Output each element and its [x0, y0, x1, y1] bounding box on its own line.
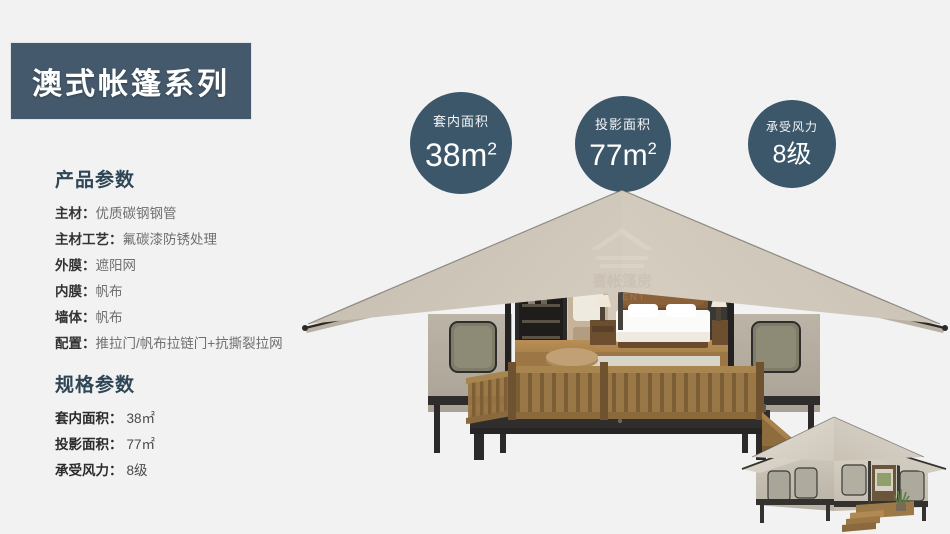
param-label: 墙体：: [55, 310, 96, 325]
spec-params-heading: 规格参数: [55, 370, 155, 397]
spec-row: 套内面积：38㎡: [55, 406, 155, 432]
stat-value-number: 77: [589, 139, 622, 172]
spec-params-section: 规格参数 套内面积：38㎡ 投影面积：77㎡ 承受风力：8级: [55, 370, 155, 484]
stat-badge-label: 承受风力: [766, 121, 818, 133]
stat-badge-label: 投影面积: [595, 118, 651, 131]
stat-value-number: 38: [425, 137, 461, 173]
svg-text:XI TENT: XI TENT: [598, 292, 646, 302]
stat-badge-value: 77m2: [589, 141, 657, 171]
stat-value-unit: m: [623, 139, 648, 172]
stat-value-superscript: 2: [648, 140, 657, 158]
stat-badge-projected-area: 投影面积 77m2: [575, 96, 671, 192]
slide-canvas: 澳式帐篷系列 产品参数 主材：优质碳钢钢管 主材工艺：氟碳漆防锈处理 外膜：遮阳…: [0, 0, 950, 534]
spec-row: 投影面积：77㎡: [55, 432, 155, 458]
spec-value: 8级: [123, 463, 148, 478]
param-row: 主材工艺：氟碳漆防锈处理: [55, 227, 283, 253]
product-params-heading: 产品参数: [55, 165, 283, 192]
param-value: 推拉门/帆布拉链门+抗撕裂拉网: [96, 336, 283, 351]
stat-badge-label: 套内面积: [433, 115, 489, 128]
spec-label: 套内面积：: [55, 411, 123, 426]
svg-text:喜帐篷房: 喜帐篷房: [592, 272, 652, 290]
param-value: 优质碳钢钢管: [96, 206, 177, 221]
stat-badge-wind-resistance: 承受风力 8级: [748, 100, 836, 188]
param-value: 帆布: [96, 310, 123, 325]
param-row: 外膜：遮阳网: [55, 253, 283, 279]
stat-value-number: 8级: [773, 140, 812, 168]
spec-row: 承受风力：8级: [55, 458, 155, 484]
param-row: 主材：优质碳钢钢管: [55, 201, 283, 227]
stat-badge-value: 38m2: [425, 139, 497, 171]
tent2-roof-upper: [752, 417, 924, 461]
product-params-list: 主材：优质碳钢钢管 主材工艺：氟碳漆防锈处理 外膜：遮阳网 内膜：帆布 墙体：帆…: [55, 201, 283, 357]
param-label: 内膜：: [55, 284, 96, 299]
series-title-banner: 澳式帐篷系列: [10, 42, 252, 120]
spec-params-list: 套内面积：38㎡ 投影面积：77㎡ 承受风力：8级: [55, 406, 155, 484]
stat-value-superscript: 2: [487, 138, 497, 158]
param-value: 帆布: [96, 284, 123, 299]
series-title-text: 澳式帐篷系列: [32, 59, 230, 103]
param-row: 墙体：帆布: [55, 305, 283, 331]
product-params-section: 产品参数 主材：优质碳钢钢管 主材工艺：氟碳漆防锈处理 外膜：遮阳网 内膜：帆布…: [55, 165, 283, 357]
param-row: 配置：推拉门/帆布拉链门+抗撕裂拉网: [55, 331, 283, 357]
param-value: 氟碳漆防锈处理: [123, 232, 218, 247]
stat-badge-interior-area: 套内面积 38m2: [410, 92, 512, 194]
param-label: 配置：: [55, 336, 96, 351]
spec-label: 承受风力：: [55, 463, 123, 478]
param-label: 主材工艺：: [55, 232, 123, 247]
stat-value-unit: m: [461, 137, 488, 173]
param-label: 外膜：: [55, 258, 96, 273]
stat-badge-value: 8级: [773, 142, 812, 167]
param-row: 内膜：帆布: [55, 279, 283, 305]
spec-label: 投影面积：: [55, 437, 123, 452]
tent-secondary-illustration: [738, 413, 950, 534]
spec-value: 38㎡: [123, 411, 156, 426]
tent-deck-railing: [466, 362, 764, 424]
param-value: 遮阳网: [96, 258, 137, 273]
param-label: 主材：: [55, 206, 96, 221]
spec-value: 77㎡: [123, 437, 156, 452]
